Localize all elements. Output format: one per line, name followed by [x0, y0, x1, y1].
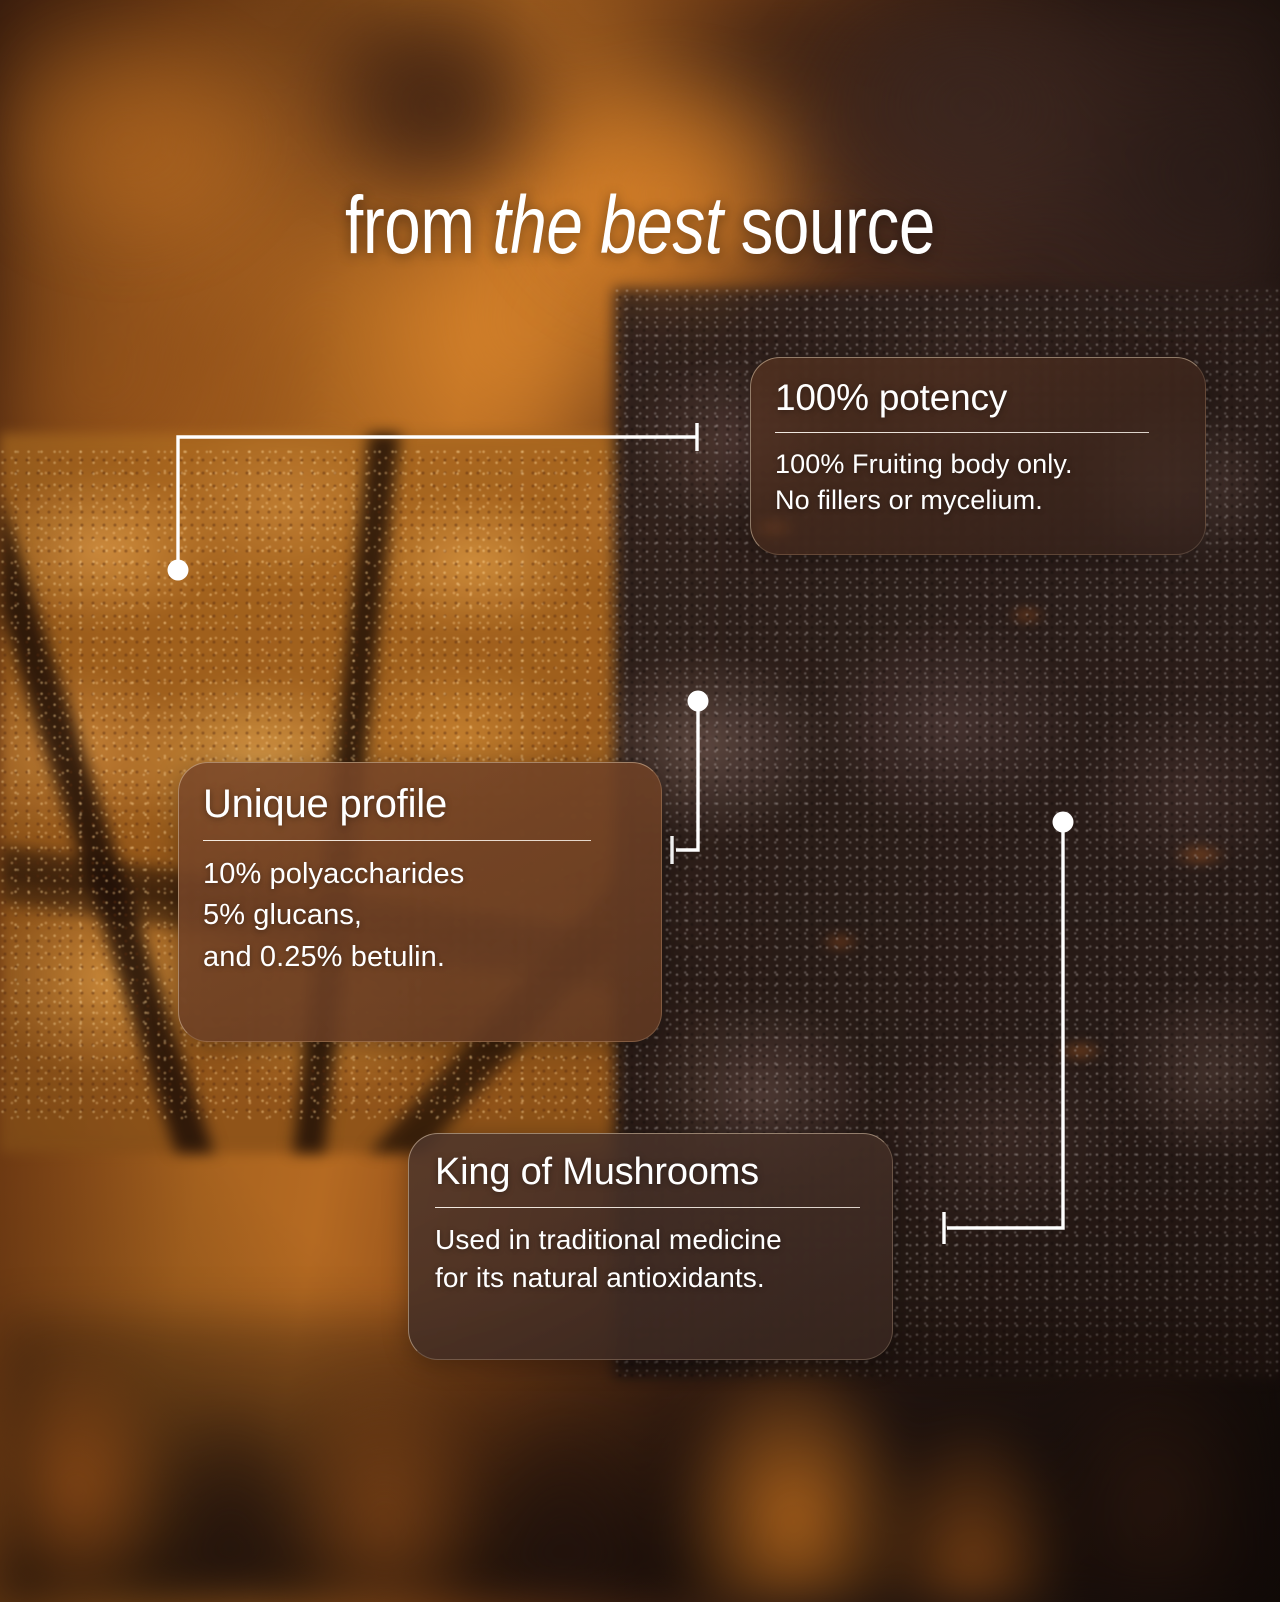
callout-body-line: and 0.25% betulin.: [203, 937, 637, 978]
page-headline: from the best source: [128, 185, 1152, 267]
callout-body-king: Used in traditional medicine for its nat…: [435, 1221, 866, 1298]
headline-segment-2: source: [723, 180, 935, 271]
callout-title-potency: 100% potency: [775, 376, 1181, 420]
infographic-canvas: from the best source 100% potency 100% F…: [0, 0, 1280, 1602]
headline-segment-1: from: [345, 180, 492, 271]
callout-body-profile: 10% polyaccharides 5% glucans, and 0.25%…: [203, 854, 637, 978]
callout-body-line: 5% glucans,: [203, 895, 637, 936]
callout-body-potency: 100% Fruiting body only. No fillers or m…: [775, 446, 1181, 519]
callout-divider-profile: [203, 840, 591, 841]
callout-body-line: Used in traditional medicine: [435, 1221, 866, 1260]
callout-card-king[interactable]: King of Mushrooms Used in traditional me…: [408, 1133, 893, 1360]
callout-body-line: No fillers or mycelium.: [775, 482, 1181, 519]
callout-body-line: 10% polyaccharides: [203, 854, 637, 895]
callout-divider-king: [435, 1207, 860, 1208]
callout-body-line: for its natural antioxidants.: [435, 1259, 866, 1298]
callout-body-line: 100% Fruiting body only.: [775, 446, 1181, 483]
callout-card-profile[interactable]: Unique profile 10% polyaccharides 5% glu…: [178, 762, 662, 1042]
callout-card-potency[interactable]: 100% potency 100% Fruiting body only. No…: [750, 357, 1206, 555]
headline-segment-italic: the best: [492, 180, 722, 271]
callout-title-king: King of Mushrooms: [435, 1150, 866, 1195]
callout-title-profile: Unique profile: [203, 781, 637, 828]
callout-divider-potency: [775, 432, 1149, 433]
